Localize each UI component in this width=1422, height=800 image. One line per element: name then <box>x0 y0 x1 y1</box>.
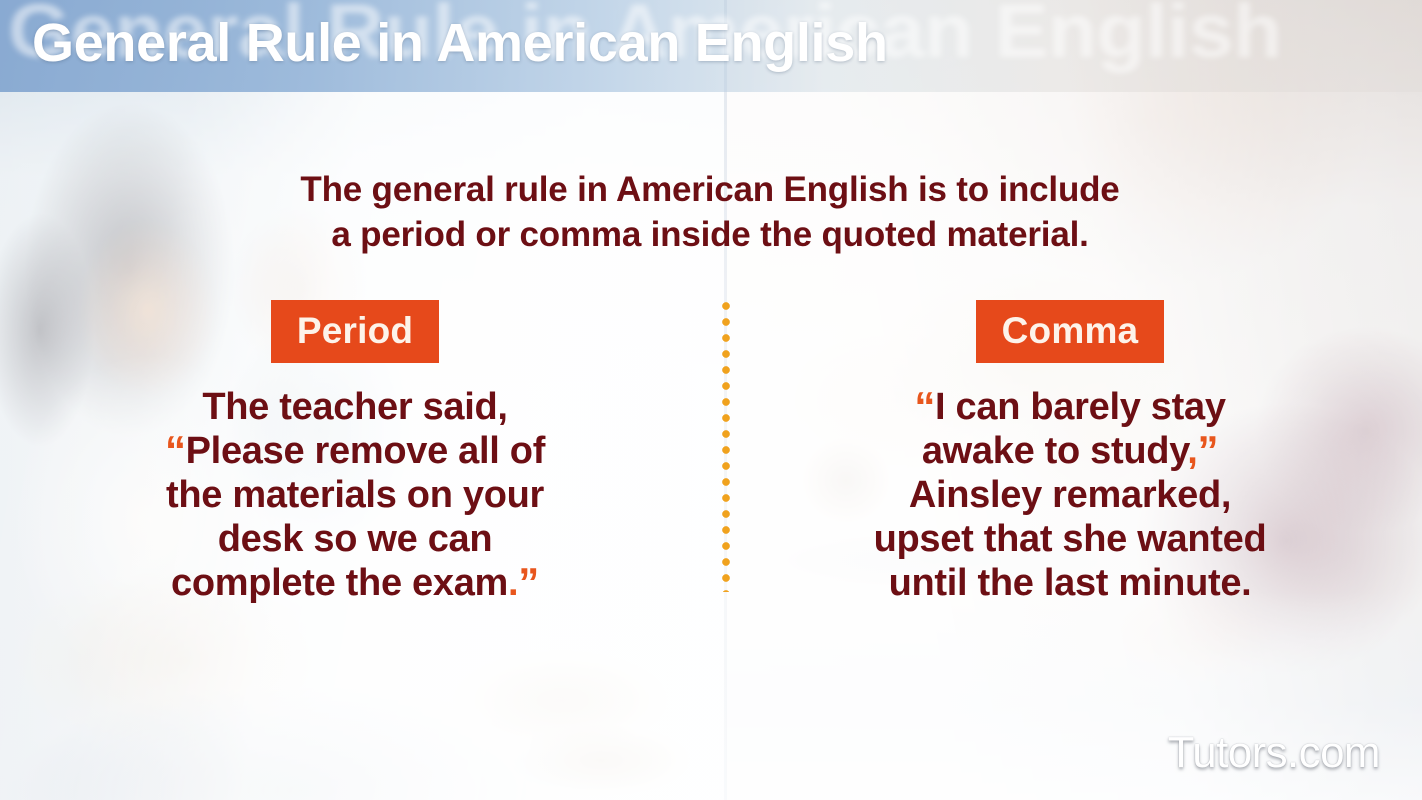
title-bar: General Rule in American English General… <box>0 0 1422 92</box>
comma-punctuation: , <box>1187 430 1197 472</box>
example-period-line-1: The teacher said, <box>75 385 635 429</box>
open-quote-icon: “ <box>914 383 935 430</box>
intro-line-1: The general rule in American English is … <box>170 168 1250 213</box>
example-comma-line-5: until the last minute. <box>790 561 1350 605</box>
slide: General Rule in American English General… <box>0 0 1422 800</box>
intro-statement: The general rule in American English is … <box>170 168 1250 258</box>
badge-period: Period <box>271 300 439 363</box>
column-comma: Comma “I can barely stay awake to study,… <box>790 300 1350 605</box>
example-comma-line-2: awake to study,” <box>790 429 1350 473</box>
open-quote-icon: “ <box>165 427 186 474</box>
close-quote-icon: ” <box>1197 427 1218 474</box>
example-period-line-2-text: Please remove all of <box>186 430 545 472</box>
example-comma-line-3: Ainsley remarked, <box>790 473 1350 517</box>
example-period-line-3: the materials on your <box>75 473 635 517</box>
badge-comma: Comma <box>976 300 1165 363</box>
example-period: The teacher said, “Please remove all of … <box>75 385 635 605</box>
example-period-line-5: complete the exam.” <box>75 561 635 605</box>
example-comma-line-2-text: awake to study <box>922 430 1187 472</box>
example-period-line-5-text: complete the exam <box>171 562 508 604</box>
example-comma-line-1: “I can barely stay <box>790 385 1350 429</box>
example-period-line-2: “Please remove all of <box>75 429 635 473</box>
page-title: General Rule in American English <box>32 12 888 74</box>
example-period-line-4: desk so we can <box>75 517 635 561</box>
close-quote-icon: ” <box>518 559 539 606</box>
intro-line-2: a period or comma inside the quoted mate… <box>170 213 1250 258</box>
example-comma-line-1-text: I can barely stay <box>935 386 1226 428</box>
brand-logo: Tutors.com <box>1168 728 1380 778</box>
period-punctuation: . <box>508 562 518 604</box>
example-comma-line-4: upset that she wanted <box>790 517 1350 561</box>
example-comma: “I can barely stay awake to study,” Ains… <box>790 385 1350 605</box>
column-divider-dotted <box>720 300 732 592</box>
column-period: Period The teacher said, “Please remove … <box>75 300 635 605</box>
